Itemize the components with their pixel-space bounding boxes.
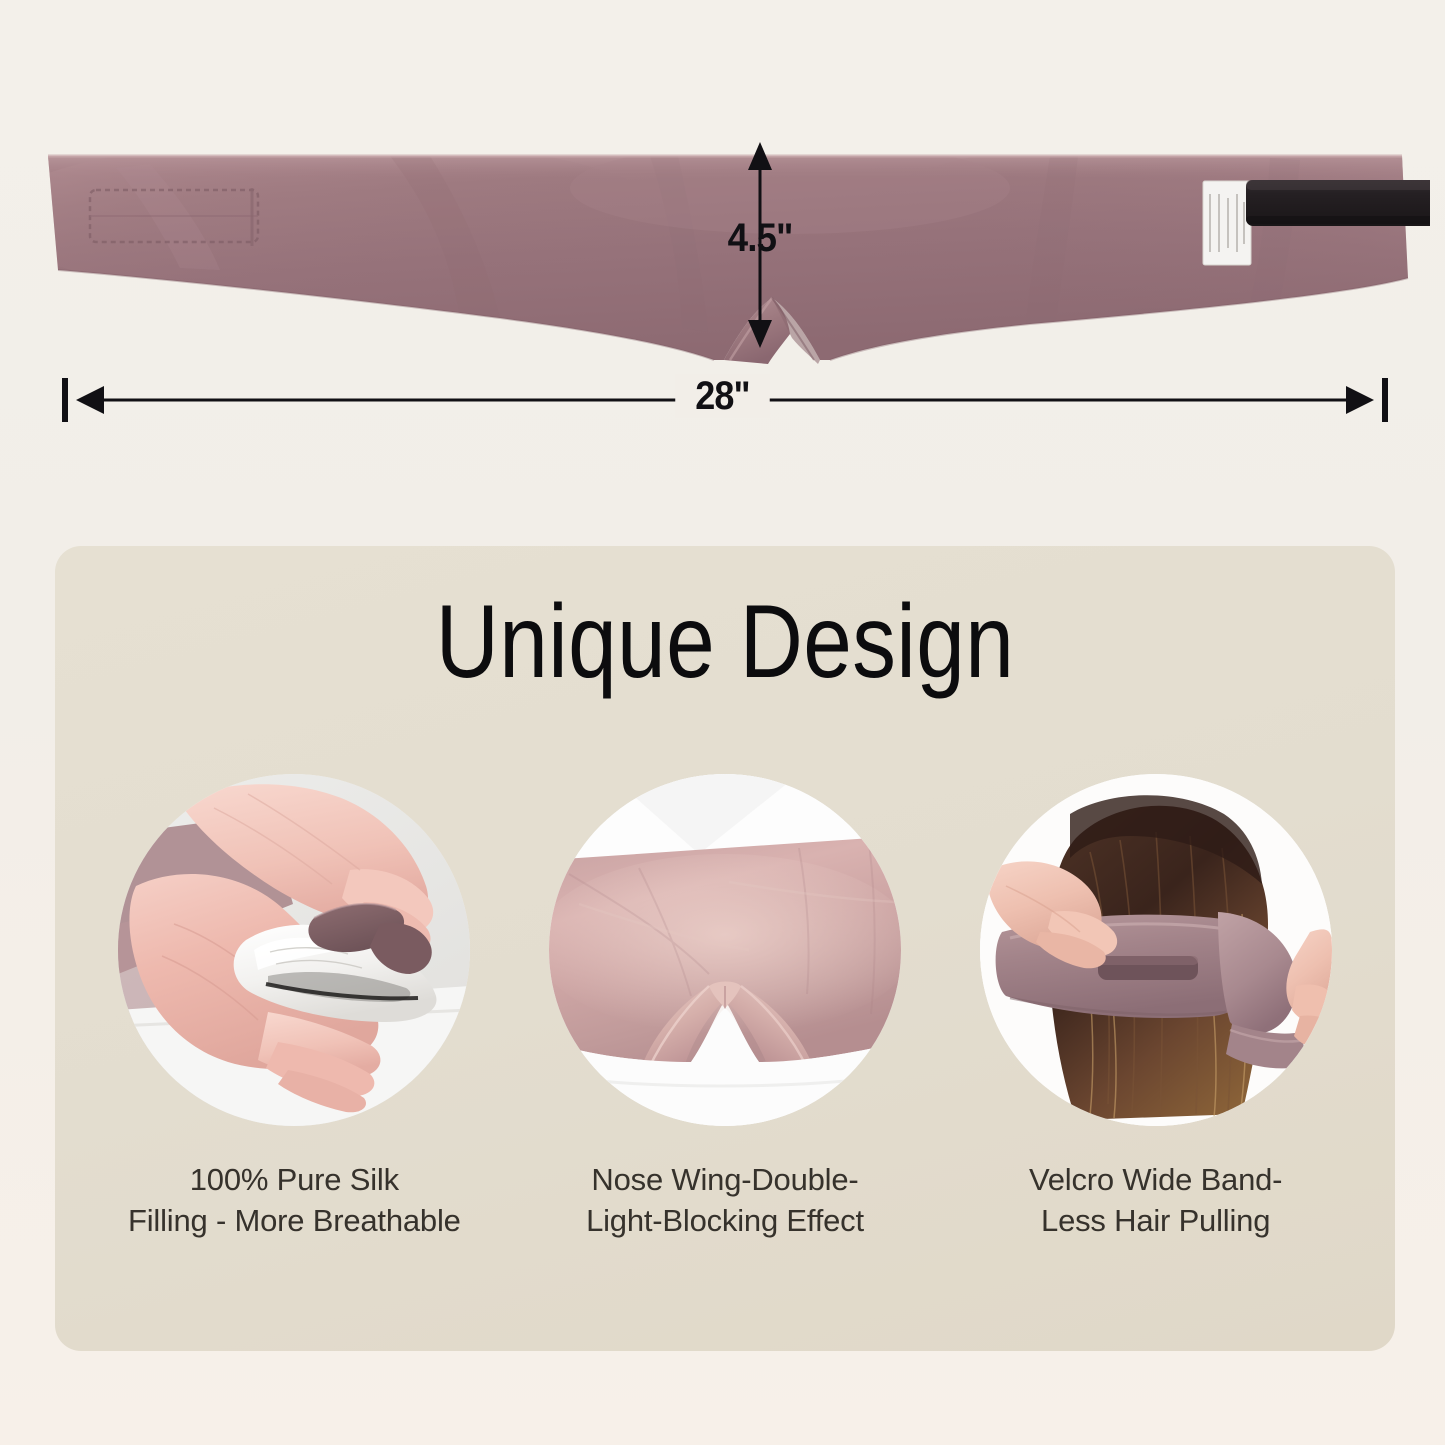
- feature-silk-filling: 100% Pure Silk Filling - More Breathable: [98, 774, 490, 1242]
- feature-image-nose-wing: [549, 774, 901, 1126]
- feature-image-velcro-band: [980, 774, 1332, 1126]
- care-tag: [1203, 181, 1251, 265]
- height-dimension-label: 4.5": [728, 216, 793, 261]
- feature-caption-silk-filling: 100% Pure Silk Filling - More Breathable: [128, 1160, 461, 1242]
- unique-design-panel: Unique Design: [55, 546, 1395, 1351]
- feature-nose-wing: Nose Wing-Double- Light-Blocking Effect: [529, 774, 921, 1242]
- hands-holding-silk-filling-illustration: [118, 774, 470, 1126]
- width-dimension-text: 28": [675, 374, 769, 418]
- nose-wing-closeup-illustration: [549, 774, 901, 1126]
- velcro-strap: [1246, 180, 1430, 226]
- feature-velcro-band: Velcro Wide Band- Less Hair Pulling: [960, 774, 1352, 1242]
- panel-title: Unique Design: [162, 590, 1288, 694]
- product-dimension-section: 4.5" 28": [0, 0, 1445, 546]
- feature-list: 100% Pure Silk Filling - More Breathable: [55, 774, 1395, 1242]
- feature-caption-nose-wing: Nose Wing-Double- Light-Blocking Effect: [586, 1160, 864, 1242]
- width-dimension-label: 28": [72, 374, 1373, 419]
- infographic-root: 4.5" 28" Unique Design: [0, 0, 1445, 1445]
- feature-image-silk-filling: [118, 774, 470, 1126]
- woman-fastening-velcro-band-illustration: [980, 774, 1332, 1126]
- feature-caption-velcro-band: Velcro Wide Band- Less Hair Pulling: [1029, 1160, 1282, 1242]
